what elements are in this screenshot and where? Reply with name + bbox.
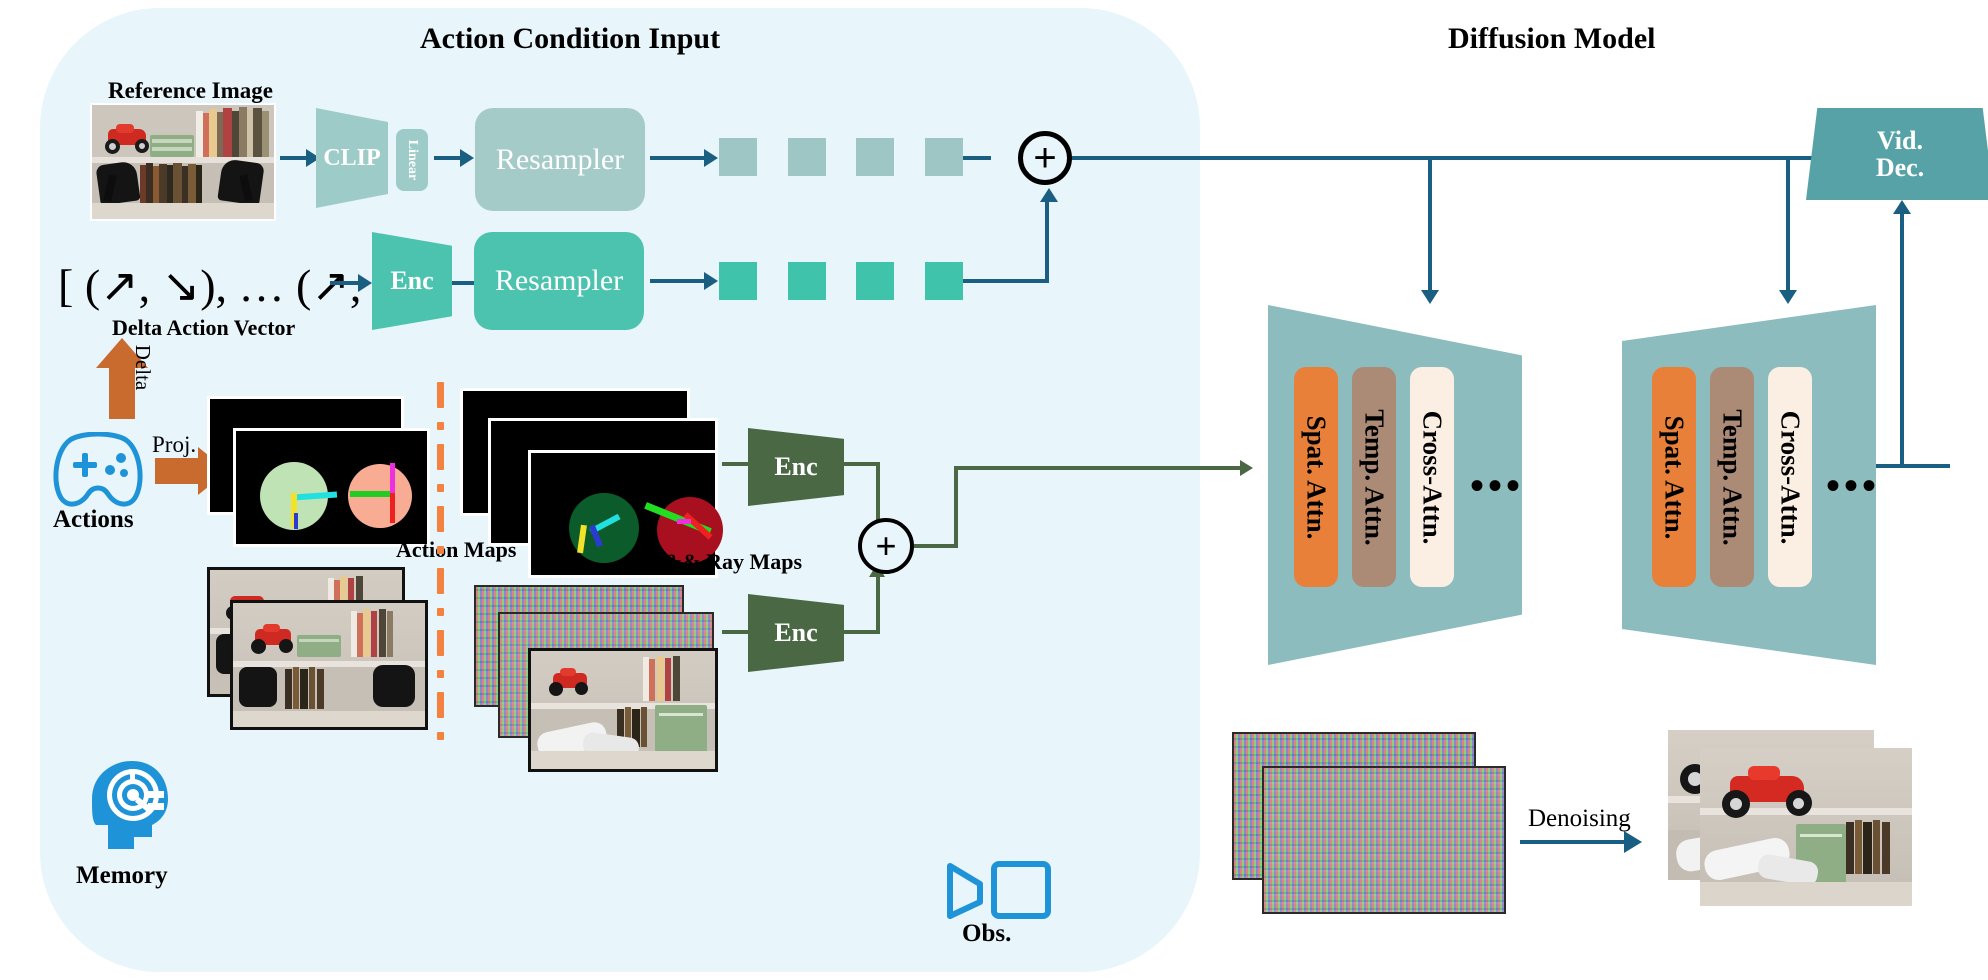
brain-head-icon xyxy=(78,755,174,853)
enc-action-label: Enc xyxy=(390,266,433,296)
line-tokens-bottom-right xyxy=(963,279,1049,283)
enc-obs-label: Enc xyxy=(774,618,817,648)
diagram-canvas: Action Condition Input Reference Image xyxy=(0,0,1988,980)
denoise-noisy-front xyxy=(1262,766,1506,914)
line-upblock-out xyxy=(1876,464,1950,468)
denoising-label: Denoising xyxy=(1528,805,1631,833)
resampler-bottom-label: Resampler xyxy=(495,264,623,298)
arrow-to-viddec-head xyxy=(1893,200,1911,214)
line-plus-bottom-right xyxy=(914,544,958,548)
arrow-ref-to-clip-line xyxy=(280,156,308,160)
panel-title-left: Action Condition Input xyxy=(420,22,720,56)
arrow-dav-to-enc-line xyxy=(330,281,360,285)
merge-plus-top: + xyxy=(1018,131,1072,185)
vid-dec-line1: Vid. xyxy=(1877,127,1923,154)
unet-down-cross-attn: Cross-Attn. xyxy=(1410,367,1454,587)
line-to-unet xyxy=(954,466,1244,470)
unet-down-ellipsis: ••• xyxy=(1470,462,1524,509)
unet-down-temp-attn-label: Temp. Attn. xyxy=(1359,409,1390,545)
reference-image-label: Reference Image xyxy=(108,78,273,104)
clip-label: CLIP xyxy=(323,145,380,172)
line-plus-bottom-up xyxy=(954,470,958,548)
arrow-into-unet-head xyxy=(1240,460,1253,476)
enc-maps-block: Enc xyxy=(748,428,844,506)
arrow-linear-to-resampler-line xyxy=(434,156,462,160)
gamepad-icon xyxy=(48,432,148,512)
line-cond-to-downblock xyxy=(1428,156,1432,296)
reference-image-photo xyxy=(90,103,276,221)
unet-down-spat-attn-label: Spat. Attn. xyxy=(1301,415,1332,539)
line-tokens-to-plus-top xyxy=(963,156,991,160)
unet-up-temp-attn-label: Temp. Attn. xyxy=(1717,409,1748,545)
arrow-cond-to-downblock-head xyxy=(1421,290,1439,304)
token-bottom-2 xyxy=(788,262,826,300)
arrow-linear-to-resampler-head xyxy=(460,149,474,167)
memory-label: Memory xyxy=(76,862,168,890)
unet-up-spat-attn: Spat. Attn. xyxy=(1652,367,1696,587)
arrow-enc-to-resampler2-line xyxy=(452,281,476,285)
line-tokens-bottom-up xyxy=(1045,200,1049,281)
unet-up-temp-attn: Temp. Attn. xyxy=(1710,367,1754,587)
unet-up-ellipsis: ••• xyxy=(1826,462,1880,509)
camera-frustum-icon xyxy=(944,858,1054,920)
token-top-2 xyxy=(788,138,826,176)
line-encobs-right xyxy=(844,630,880,634)
denoise-clean-front xyxy=(1700,748,1912,906)
arrow-resampler-bottom-head xyxy=(704,272,718,290)
resampler-top-label: Resampler xyxy=(496,143,624,177)
divider-dashdot xyxy=(436,382,445,772)
obs-frame-clean-front xyxy=(528,648,718,772)
token-top-1 xyxy=(719,138,757,176)
delta-arrow-label: Delta xyxy=(130,345,155,390)
line-upblock-to-viddec xyxy=(1900,214,1904,466)
denoising-arrow-head xyxy=(1624,831,1642,853)
linear-label: Linear xyxy=(404,140,420,180)
unet-up-cross-attn: Cross-Attn. xyxy=(1768,367,1812,587)
unet-up-spat-attn-label: Spat. Attn. xyxy=(1659,415,1690,539)
line-encmaps-right xyxy=(844,462,880,466)
unet-down-temp-attn: Temp. Attn. xyxy=(1352,367,1396,587)
enc-action-block: Enc xyxy=(372,232,452,330)
token-bottom-3 xyxy=(856,262,894,300)
arrow-into-plus-top-head xyxy=(1040,188,1058,202)
denoising-arrow-line xyxy=(1520,840,1626,844)
merge-plus-bottom: + xyxy=(858,518,914,574)
unet-down-cross-attn-label: Cross-Attn. xyxy=(1417,410,1448,544)
enc-maps-label: Enc xyxy=(774,452,817,482)
token-bottom-4 xyxy=(925,262,963,300)
unet-up-cross-attn-label: Cross-Attn. xyxy=(1775,410,1806,544)
line-encobs-up xyxy=(876,576,880,632)
line-cond-to-upblock xyxy=(1786,156,1790,296)
resampler-bottom-block: Resampler xyxy=(474,232,644,330)
vid-dec-block: Vid. Dec. xyxy=(1806,108,1988,200)
resampler-top-block: Resampler xyxy=(475,108,645,211)
proj-arrow-shaft xyxy=(155,458,199,484)
memory-photo-front xyxy=(230,600,428,730)
merge-plus-bottom-label: + xyxy=(875,528,896,564)
unet-down-spat-attn: Spat. Attn. xyxy=(1294,367,1338,587)
arrow-cond-to-upblock-head xyxy=(1779,290,1797,304)
token-bottom-1 xyxy=(719,262,757,300)
linear-block: Linear xyxy=(396,129,428,191)
proj-label: Proj. xyxy=(152,432,196,458)
merge-plus-top-label: + xyxy=(1033,138,1056,178)
clip-block: CLIP xyxy=(316,108,388,208)
action-map-frame-front xyxy=(233,428,430,547)
arrow-resampler-top-head xyxy=(704,149,718,167)
actions-label: Actions xyxy=(53,506,134,534)
token-top-3 xyxy=(856,138,894,176)
token-top-4 xyxy=(925,138,963,176)
obs-label: Obs. xyxy=(962,920,1011,948)
arrow-resampler-bottom-line xyxy=(650,279,706,283)
ray-maps-label: && Ray Maps xyxy=(664,549,802,575)
vid-dec-line2: Dec. xyxy=(1876,154,1924,181)
panel-title-right: Diffusion Model xyxy=(1448,22,1656,56)
arrow-resampler-top-line xyxy=(650,156,706,160)
arrow-dav-to-enc-head xyxy=(358,274,372,292)
enc-obs-block: Enc xyxy=(748,594,844,672)
